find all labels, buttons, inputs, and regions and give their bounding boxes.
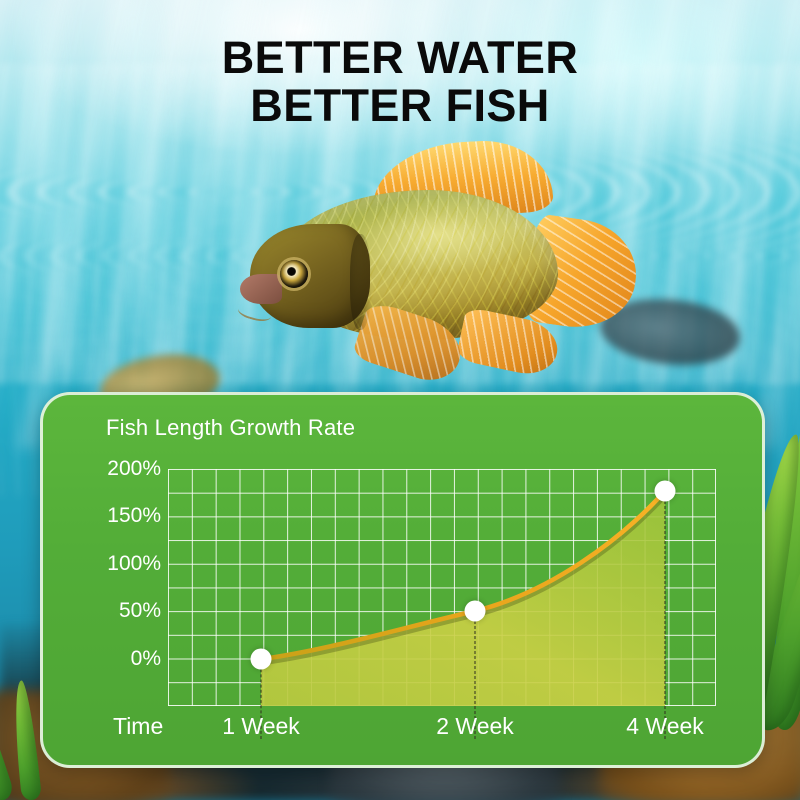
y-axis-label-150: 150% — [107, 504, 161, 528]
y-axis-label-50: 50% — [119, 599, 161, 623]
y-axis-label-0: 0% — [131, 647, 161, 671]
fish-mouth — [240, 274, 282, 304]
y-axis-label-200: 200% — [107, 457, 161, 481]
plot-area — [168, 469, 716, 706]
x-axis-label-2-week: 2 Week — [436, 713, 514, 740]
x-axis-label-1-week: 1 Week — [222, 713, 300, 740]
data-point-1-week[interactable] — [251, 649, 272, 670]
carp-fish-illustration — [232, 138, 614, 390]
x-axis-label-4-week: 4 Week — [626, 713, 704, 740]
fish-gill — [350, 234, 372, 330]
y-axis-label-100: 100% — [107, 552, 161, 576]
data-point-2-week[interactable] — [465, 601, 486, 622]
plant-blade — [10, 680, 42, 800]
data-point-4-week[interactable] — [655, 481, 676, 502]
page-title: BETTER WATER BETTER FISH — [0, 34, 800, 130]
growth-curve-svg — [168, 469, 716, 706]
plant-blade — [0, 654, 15, 800]
headline-line-2: BETTER FISH — [0, 82, 800, 130]
y-axis: 200% 150% 100% 50% 0% — [43, 469, 161, 706]
headline-line-1: BETTER WATER — [222, 32, 578, 83]
fish-eye — [280, 260, 308, 288]
dropline-4-week — [665, 491, 666, 739]
poster-canvas: BETTER WATER BETTER FISH Fish Length Gro… — [0, 0, 800, 800]
area-fill — [261, 491, 665, 706]
x-axis-title: Time — [113, 713, 163, 740]
chart-title: Fish Length Growth Rate — [106, 415, 355, 441]
chart-panel: Fish Length Growth Rate 200% 150% 100% 5… — [40, 392, 765, 768]
